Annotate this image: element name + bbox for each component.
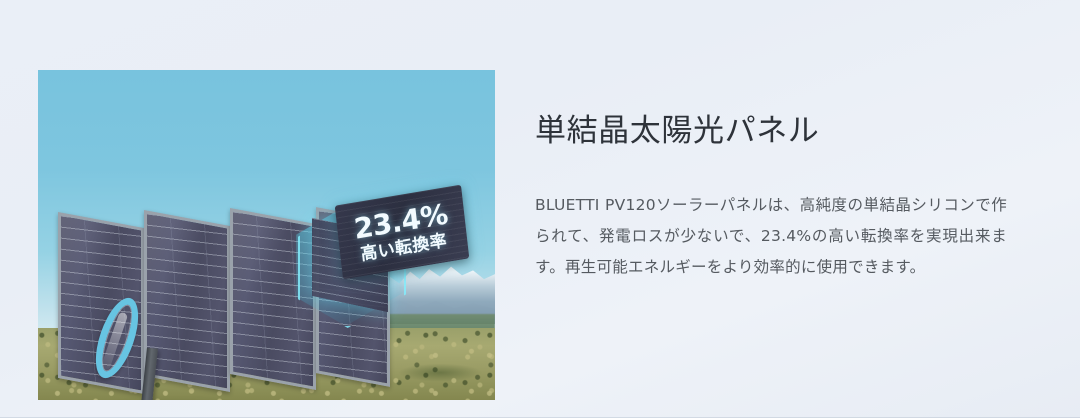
body-paragraph: BLUETTI PV120ソーラーパネルは、高純度の単結晶シリコンで作られて、発… xyxy=(535,190,1007,283)
product-feature-banner: 23.4% 高い転換率 単結晶太陽光パネル BLUETTI PV120ソーラーパ… xyxy=(0,0,1080,418)
panel-segment-2 xyxy=(144,210,230,392)
page-title: 単結晶太陽光パネル xyxy=(535,112,1015,152)
solar-panel-field-photo: 23.4% 高い転換率 xyxy=(38,70,495,400)
copy-block: 単結晶太陽光パネル BLUETTI PV120ソーラーパネルは、高純度の単結晶シ… xyxy=(535,112,1015,283)
